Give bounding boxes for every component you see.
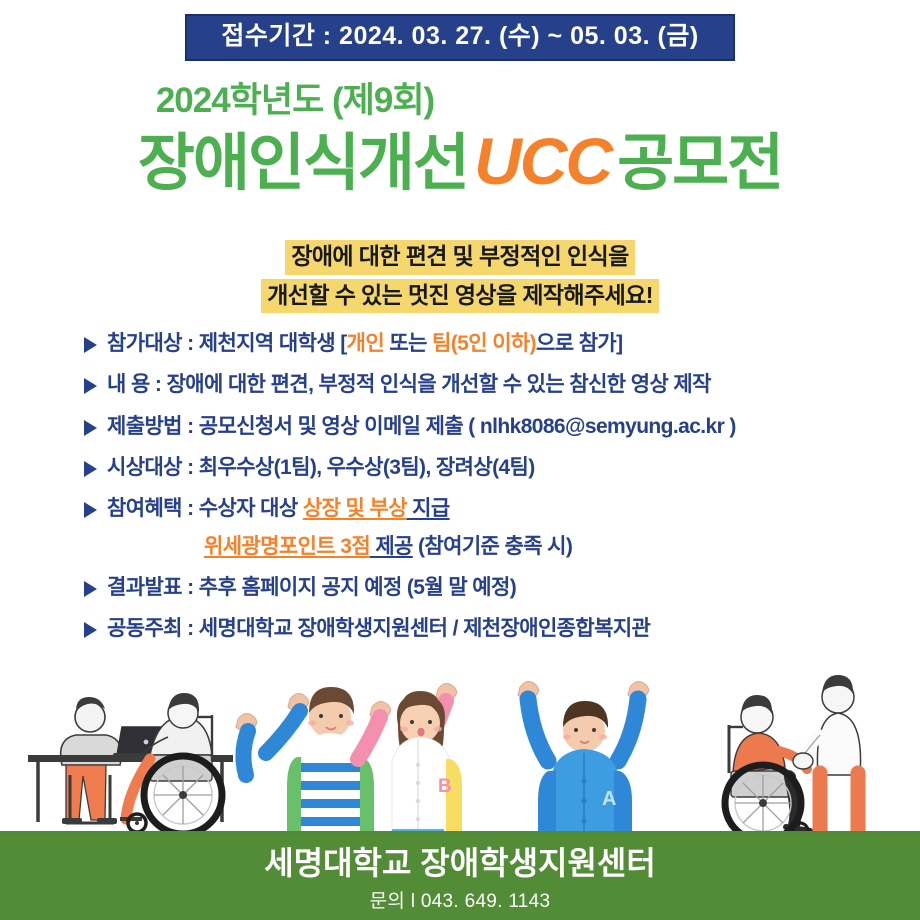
detail-row-benefits: 참여혜택 : 수상자 대상 상장 및 부상 지급 xyxy=(84,495,884,523)
detail-label-benefits: 참여혜택 xyxy=(107,497,182,520)
student-striped xyxy=(236,687,374,845)
illustration-strip: B xyxy=(0,655,920,845)
detail-label-awards: 시상대상 xyxy=(107,456,182,479)
triangle-bullet-icon xyxy=(84,337,97,353)
student-blue-a: A xyxy=(518,681,649,845)
title-main-ucc: UCC xyxy=(468,124,617,198)
detail-label-eligibility: 참가대상 xyxy=(107,332,182,355)
detail-benefits-points: 위세광명포인트 3점 xyxy=(204,535,370,558)
details-list: 참가대상 : 제천지역 대학생 [개인 또는 팀(5인 이하)으로 참가] 내 … xyxy=(84,330,884,657)
detail-sep: : xyxy=(182,617,199,640)
detail-benefits-b: 지급 xyxy=(407,497,450,520)
detail-eligibility-mid: 또는 xyxy=(384,332,432,355)
detail-row-benefits-secondary: 위세광명포인트 3점 제공 (참여기준 충족 시) xyxy=(204,533,884,561)
detail-eligibility-individual: 개인 xyxy=(347,332,384,355)
title-subline: 2024학년도 (제9회) xyxy=(0,82,920,121)
footer-contact: 문의 l 043. 649. 1143 xyxy=(0,886,920,913)
scene-desk-wheelchair xyxy=(28,693,233,834)
detail-row-content: 내 용 : 장애에 대한 편견, 부정적 인식을 개선할 수 있는 참신한 영상… xyxy=(84,371,884,399)
student-a-letter: A xyxy=(602,788,616,810)
detail-benefits-provide: 제공 xyxy=(370,535,413,558)
detail-row-benefits-secondary-text: 위세광명포인트 3점 제공 (참여기준 충족 시) xyxy=(204,533,572,561)
detail-sep: : xyxy=(150,373,167,396)
detail-row-announcement: 결과발표 : 추후 홈페이지 공지 예정 (5월 말 예정) xyxy=(84,574,884,602)
detail-row-awards-text: 시상대상 : 최우수상(1팀), 우수상(3팀), 장려상(4팀) xyxy=(107,454,535,482)
footer: 세명대학교 장애학생지원센터 문의 l 043. 649. 1143 xyxy=(0,834,920,920)
detail-sep: : xyxy=(182,497,199,520)
triangle-bullet-icon xyxy=(84,461,97,477)
subtitle-line-1-wrap: 장애에 대한 편견 및 부정적인 인식을 xyxy=(0,240,920,275)
triangle-bullet-icon xyxy=(84,622,97,638)
detail-sep: : xyxy=(182,456,199,479)
triangle-bullet-icon xyxy=(84,378,97,394)
detail-sep: : xyxy=(182,415,199,438)
scene-cheering-students: B xyxy=(236,681,649,845)
footer-org: 세명대학교 장애학생지원센터 xyxy=(0,834,920,882)
detail-row-hosts-text: 공동주최 : 세명대학교 장애학생지원센터 / 제천장애인종합복지관 xyxy=(107,615,650,643)
detail-sep: : xyxy=(182,576,199,599)
detail-eligibility-b: 으로 참가] xyxy=(536,332,623,355)
scene-handshake xyxy=(725,675,868,841)
detail-benefits-condition: (참여기준 충족 시) xyxy=(413,535,573,558)
poster-root: 접수기간 : 2024. 03. 27. (수) ~ 05. 03. (금) 2… xyxy=(0,0,920,920)
triangle-bullet-icon xyxy=(84,502,97,518)
detail-benefits-a: 수상자 대상 xyxy=(199,497,303,520)
detail-sep: : xyxy=(182,332,199,355)
detail-label-hosts: 공동주최 xyxy=(107,617,182,640)
detail-eligibility-team: 팀(5인 이하) xyxy=(432,332,536,355)
detail-row-eligibility-text: 참가대상 : 제천지역 대학생 [개인 또는 팀(5인 이하)으로 참가] xyxy=(107,330,623,358)
detail-row-content-text: 내 용 : 장애에 대한 편견, 부정적 인식을 개선할 수 있는 참신한 영상… xyxy=(107,371,711,399)
application-period-banner: 접수기간 : 2024. 03. 27. (수) ~ 05. 03. (금) xyxy=(185,14,734,61)
detail-benefits-prize: 상장 및 부상 xyxy=(303,497,407,520)
detail-row-submission: 제출방법 : 공모신청서 및 영상 이메일 제출 ( nlhk8086@semy… xyxy=(84,413,884,441)
detail-announcement-value: 추후 홈페이지 공지 예정 (5월 말 예정) xyxy=(199,576,516,599)
detail-label-announcement: 결과발표 xyxy=(107,576,182,599)
triangle-bullet-icon xyxy=(84,581,97,597)
detail-content-value: 장애에 대한 편견, 부정적 인식을 개선할 수 있는 참신한 영상 제작 xyxy=(167,373,711,396)
detail-hosts-value: 세명대학교 장애학생지원센터 / 제천장애인종합복지관 xyxy=(199,617,651,640)
subtitle-line-2-wrap: 개선할 수 있는 멋진 영상을 제작해주세요! xyxy=(0,279,920,314)
banner-container: 접수기간 : 2024. 03. 27. (수) ~ 05. 03. (금) xyxy=(0,14,920,61)
title-main: 장애인식개선UCC공모전 xyxy=(0,127,920,196)
detail-row-benefits-text: 참여혜택 : 수상자 대상 상장 및 부상 지급 xyxy=(107,495,450,523)
detail-row-hosts: 공동주최 : 세명대학교 장애학생지원센터 / 제천장애인종합복지관 xyxy=(84,615,884,643)
detail-eligibility-a: 제천지역 대학생 [ xyxy=(199,332,347,355)
detail-label-content: 내 용 xyxy=(107,371,150,399)
detail-row-announcement-text: 결과발표 : 추후 홈페이지 공지 예정 (5월 말 예정) xyxy=(107,574,516,602)
student-b-letter: B xyxy=(438,776,452,797)
title-block: 2024학년도 (제9회) 장애인식개선UCC공모전 xyxy=(0,82,920,196)
illustration-svg: B xyxy=(0,655,920,845)
detail-awards-value: 최우수상(1팀), 우수상(3팀), 장려상(4팀) xyxy=(199,456,535,479)
detail-submission-value: 공모신청서 및 영상 이메일 제출 ( nlhk8086@semyung.ac.… xyxy=(199,415,736,438)
detail-row-submission-text: 제출방법 : 공모신청서 및 영상 이메일 제출 ( nlhk8086@semy… xyxy=(107,413,736,441)
title-main-part-a: 장애인식개선 xyxy=(138,129,468,198)
detail-row-eligibility: 참가대상 : 제천지역 대학생 [개인 또는 팀(5인 이하)으로 참가] xyxy=(84,330,884,358)
triangle-bullet-icon xyxy=(84,420,97,436)
title-main-part-b: 공모전 xyxy=(617,129,782,198)
subtitle-line-1: 장애에 대한 편견 및 부정적인 인식을 xyxy=(285,240,634,275)
detail-row-awards: 시상대상 : 최우수상(1팀), 우수상(3팀), 장려상(4팀) xyxy=(84,454,884,482)
subtitle-block: 장애에 대한 편견 및 부정적인 인식을 개선할 수 있는 멋진 영상을 제작해… xyxy=(0,240,920,317)
subtitle-line-2: 개선할 수 있는 멋진 영상을 제작해주세요! xyxy=(261,279,659,314)
detail-label-submission: 제출방법 xyxy=(107,415,182,438)
